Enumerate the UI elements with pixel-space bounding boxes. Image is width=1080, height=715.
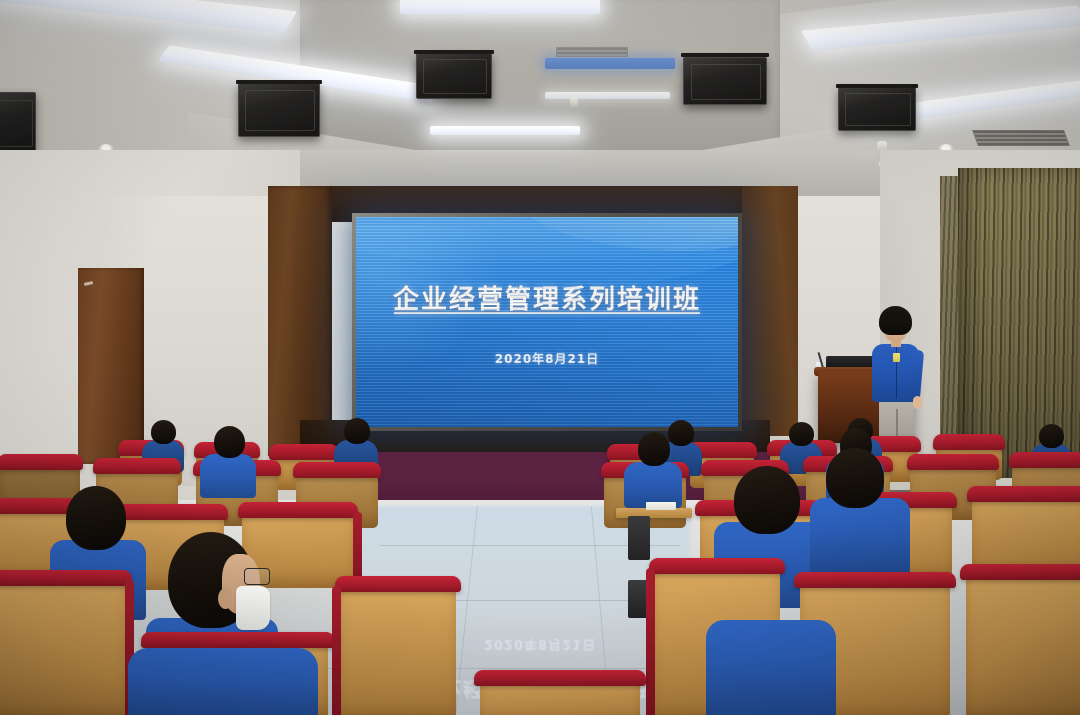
attendee-head <box>344 418 370 444</box>
presenter-hand <box>913 396 922 409</box>
attendee-head <box>789 422 814 446</box>
seat-back <box>966 572 1080 715</box>
attendee-head <box>638 432 670 466</box>
seat-trim <box>933 434 1004 450</box>
seat-back <box>340 584 456 715</box>
attendee-head <box>151 420 176 444</box>
slide-title: 企业经营管理系列培训班 <box>356 279 738 316</box>
attendee-head <box>1039 424 1064 448</box>
speaker-bracket-5 <box>414 50 494 54</box>
presentation-screen[interactable]: 企业经营管理系列培训班 2020年8月21日 <box>356 217 738 427</box>
stage-wood-pillar-right <box>742 186 798 436</box>
slide-date: 2020年8月21日 <box>356 350 738 367</box>
door-left[interactable] <box>78 268 144 464</box>
attendee-head <box>826 448 884 508</box>
ceiling-speaker-1 <box>0 92 36 154</box>
ceiling-light-5 <box>545 58 675 69</box>
seat-trim <box>335 576 460 592</box>
ceiling-speaker-4 <box>838 87 916 131</box>
seat-trim <box>93 458 182 474</box>
presentation-screen-frame: 企业经营管理系列培训班 2020年8月21日 <box>352 213 742 431</box>
smoke-detector-2 <box>570 97 578 107</box>
seat-trim <box>649 558 785 574</box>
face-mask <box>236 586 270 630</box>
attendee-head <box>214 426 245 458</box>
presenter-fringe <box>881 312 910 323</box>
presenter-badge <box>893 353 900 362</box>
seat-trim <box>960 564 1080 580</box>
seat-row4-3[interactable] <box>340 584 456 715</box>
seat-back <box>0 578 126 715</box>
attendee-body <box>200 454 256 498</box>
ceiling-speaker-3 <box>683 57 767 105</box>
ceiling-vent-2 <box>972 130 1070 146</box>
ceiling-light-8 <box>545 92 670 99</box>
attendee-ear <box>218 588 233 609</box>
seat-trim <box>967 486 1080 502</box>
ceiling-speaker-2 <box>238 83 320 137</box>
ceiling-speaker-5 <box>416 53 492 99</box>
speaker-bracket-3 <box>681 53 769 57</box>
attendee-body <box>706 620 836 715</box>
seat-side-left <box>646 568 655 715</box>
seat-row4-7[interactable] <box>480 678 640 715</box>
attendee-body <box>810 498 910 574</box>
seat-trim <box>269 444 338 460</box>
seat-trim <box>141 632 335 648</box>
eyeglasses <box>244 568 270 585</box>
attendee-body <box>128 648 318 715</box>
ceiling-light-4 <box>430 126 580 135</box>
ceiling-vent-3 <box>556 47 628 57</box>
attendee-head <box>734 466 800 534</box>
seat-trim <box>0 570 132 586</box>
seat-trim <box>1009 452 1080 468</box>
slide-title-underline <box>394 312 700 314</box>
ceiling-light-3 <box>400 0 600 14</box>
seat-trim <box>474 670 647 686</box>
seat-desk-post-left <box>628 516 650 560</box>
attendee-head <box>66 486 126 550</box>
seat-trim <box>0 454 83 470</box>
seat-trim <box>907 454 1000 470</box>
seat-side-left <box>332 586 341 715</box>
stage-wood-pillar-left <box>268 186 332 456</box>
seat-trim <box>794 572 956 588</box>
paper-sheet <box>646 502 676 510</box>
seat-trim <box>238 502 359 518</box>
training-room-photo: 企业经营管理系列培训班 2020年8月21日 2020年8月21日 企业经营管理… <box>0 0 1080 715</box>
speaker-bracket-4 <box>836 84 918 88</box>
attendee-head <box>668 420 694 446</box>
speaker-bracket-2 <box>236 80 322 84</box>
seat-trim <box>293 462 382 478</box>
seat-row4-6[interactable] <box>966 572 1080 715</box>
seat-row4-1[interactable] <box>0 578 126 715</box>
